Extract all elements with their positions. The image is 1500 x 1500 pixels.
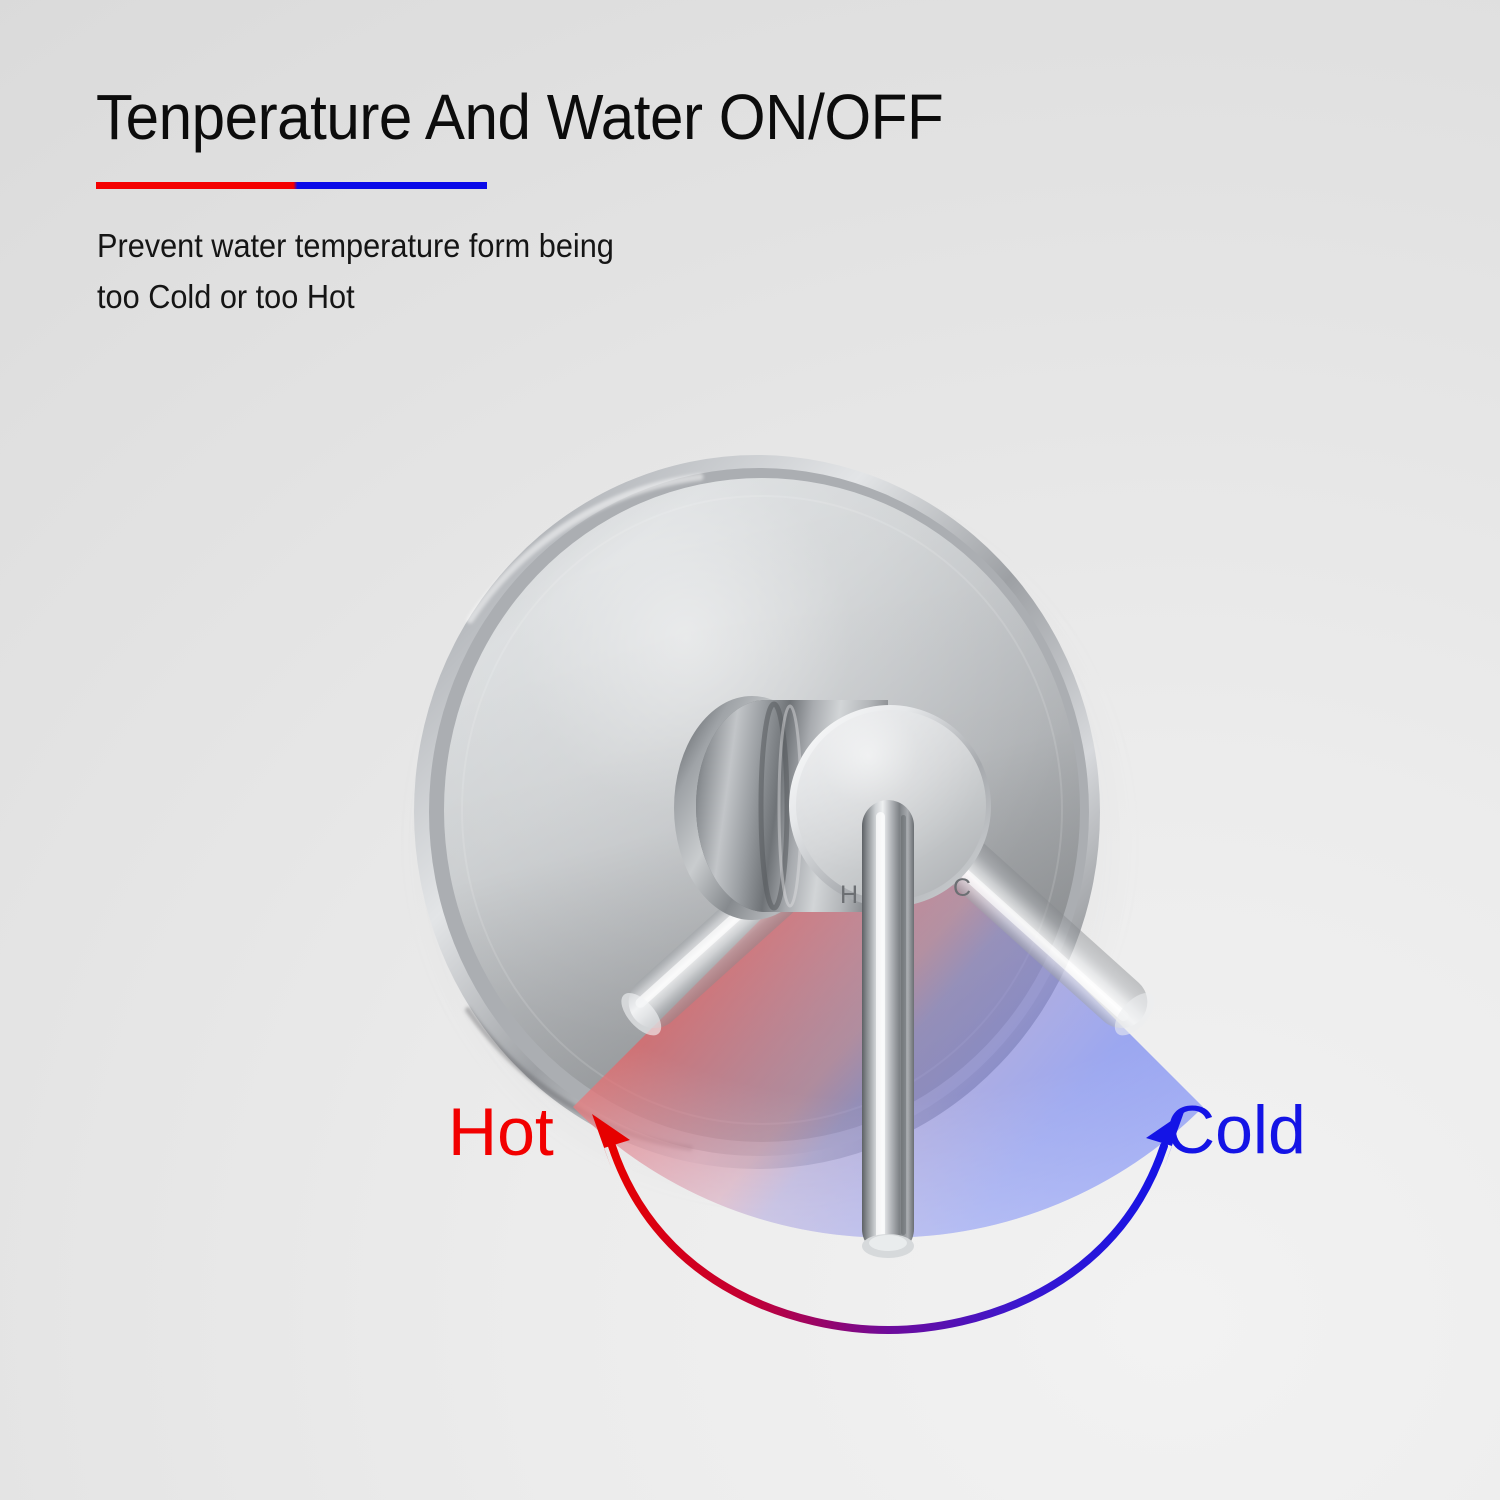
callout-label-cold: Cold (1166, 1096, 1306, 1164)
product-illustration: H C (0, 0, 1500, 1500)
callout-label-hot: Hot (448, 1098, 554, 1166)
lever-solid-neutral[interactable] (862, 800, 914, 1258)
knob-mark-hot: H (840, 881, 858, 909)
infographic-canvas: Tenperature And Water ON/OFF Prevent wat… (0, 0, 1500, 1500)
knob-mark-cold: C (953, 874, 971, 902)
valve-knob[interactable]: H C (674, 696, 991, 920)
